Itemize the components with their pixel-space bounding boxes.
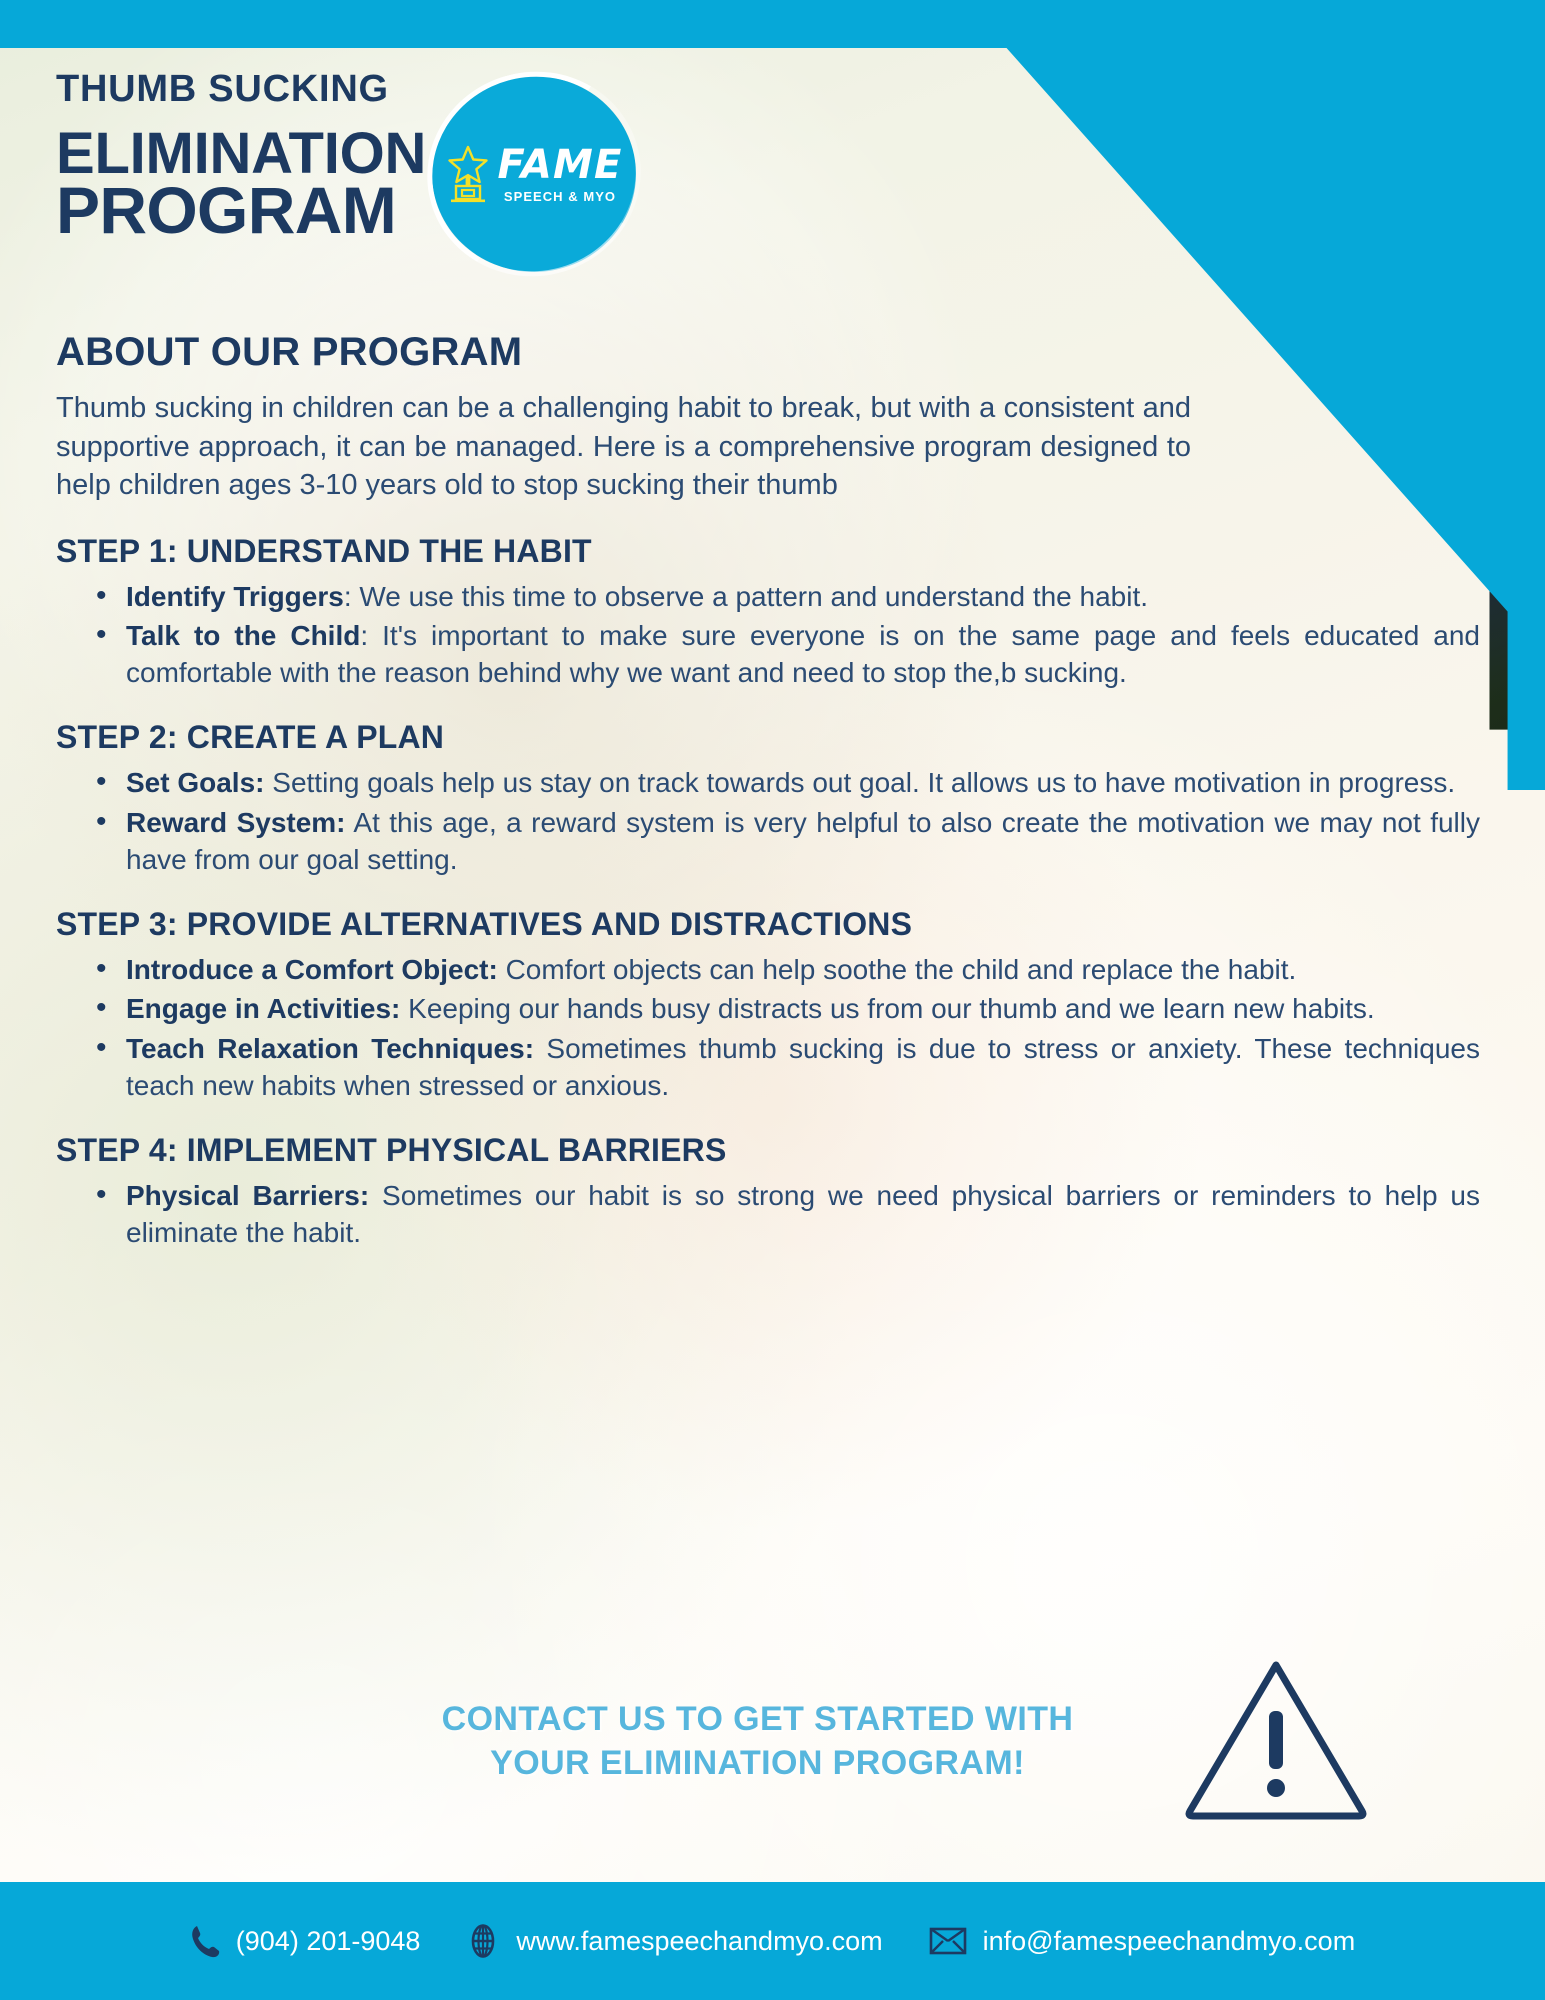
warning-triangle-icon [1183,1655,1369,1821]
about-heading: ABOUT OUR PROGRAM [56,330,1493,375]
step-heading: STEP 1: UNDERSTAND THE HABIT [56,533,1493,570]
footer-email[interactable]: info@famespeechandmyo.com [929,1926,1356,1957]
bullet-text: Comfort objects can help soothe the chil… [498,954,1297,985]
envelope-icon [929,1926,967,1956]
list-item: Identify Triggers: We use this time to o… [90,578,1480,615]
logo-tagline-text: SPEECH & MYO [504,189,616,204]
bullet-label: Teach Relaxation Techniques: [126,1033,534,1064]
bullet-label: Physical Barriers: [126,1180,369,1211]
step-bullet-list: Set Goals: Setting goals help us stay on… [90,764,1493,878]
footer-phone[interactable]: (904) 201-9048 [190,1924,421,1958]
flyer-page: THUMB SUCKING ELIMINATION PROGRAM FAME S… [0,0,1545,2000]
bullet-text: Setting goals help us stay on track towa… [264,767,1455,798]
bullet-label: Introduce a Comfort Object: [126,954,498,985]
header-title-line2: PROGRAM [56,177,426,244]
about-paragraph: Thumb sucking in children can be a chall… [56,389,1191,505]
footer-website-text: www.famespeechandmyo.com [516,1926,882,1957]
list-item: Engage in Activities: Keeping our hands … [90,990,1480,1027]
bullet-text: : We use this time to observe a pattern … [344,581,1148,612]
globe-icon [466,1924,500,1958]
list-item: Reward System: At this age, a reward sys… [90,804,1480,878]
step-bullet-list: Introduce a Comfort Object: Comfort obje… [90,951,1493,1104]
list-item: Set Goals: Setting goals help us stay on… [90,764,1480,801]
bullet-label: Set Goals: [126,767,264,798]
logo-brand-text: FAME [497,145,622,185]
footer-website[interactable]: www.famespeechandmyo.com [466,1924,882,1958]
footer-phone-text: (904) 201-9048 [236,1926,421,1957]
footer-contact-bar: (904) 201-9048 www.famespeechandmyo.com … [0,1882,1545,2000]
fame-logo: FAME SPEECH & MYO [432,76,636,272]
bullet-label: Identify Triggers [126,581,344,612]
header-titles: THUMB SUCKING ELIMINATION PROGRAM [56,70,426,244]
bullet-label: Reward System: [126,807,346,838]
list-item: Physical Barriers: Sometimes our habit i… [90,1177,1480,1251]
step-heading: STEP 4: IMPLEMENT PHYSICAL BARRIERS [56,1132,1493,1169]
footer-email-text: info@famespeechandmyo.com [983,1926,1356,1957]
step-bullet-list: Identify Triggers: We use this time to o… [90,578,1493,692]
list-item: Teach Relaxation Techniques: Sometimes t… [90,1030,1480,1104]
bullet-label: Talk to the Child [126,620,360,651]
list-item: Talk to the Child: It's important to mak… [90,617,1480,691]
step-heading: STEP 3: PROVIDE ALTERNATIVES AND DISTRAC… [56,906,1493,943]
step-heading: STEP 2: CREATE A PLAN [56,719,1493,756]
list-item: Introduce a Comfort Object: Comfort obje… [90,951,1480,988]
bullet-text: Keeping our hands busy distracts us from… [400,993,1374,1024]
steps-container: STEP 1: UNDERSTAND THE HABITIdentify Tri… [56,533,1493,1252]
top-teal-band [0,0,1010,48]
star-trophy-icon [445,143,491,205]
header-eyebrow: THUMB SUCKING [56,70,426,108]
step-bullet-list: Physical Barriers: Sometimes our habit i… [90,1177,1493,1251]
phone-icon [190,1924,220,1958]
bullet-label: Engage in Activities: [126,993,400,1024]
main-content: ABOUT OUR PROGRAM Thumb sucking in child… [0,330,1545,1254]
